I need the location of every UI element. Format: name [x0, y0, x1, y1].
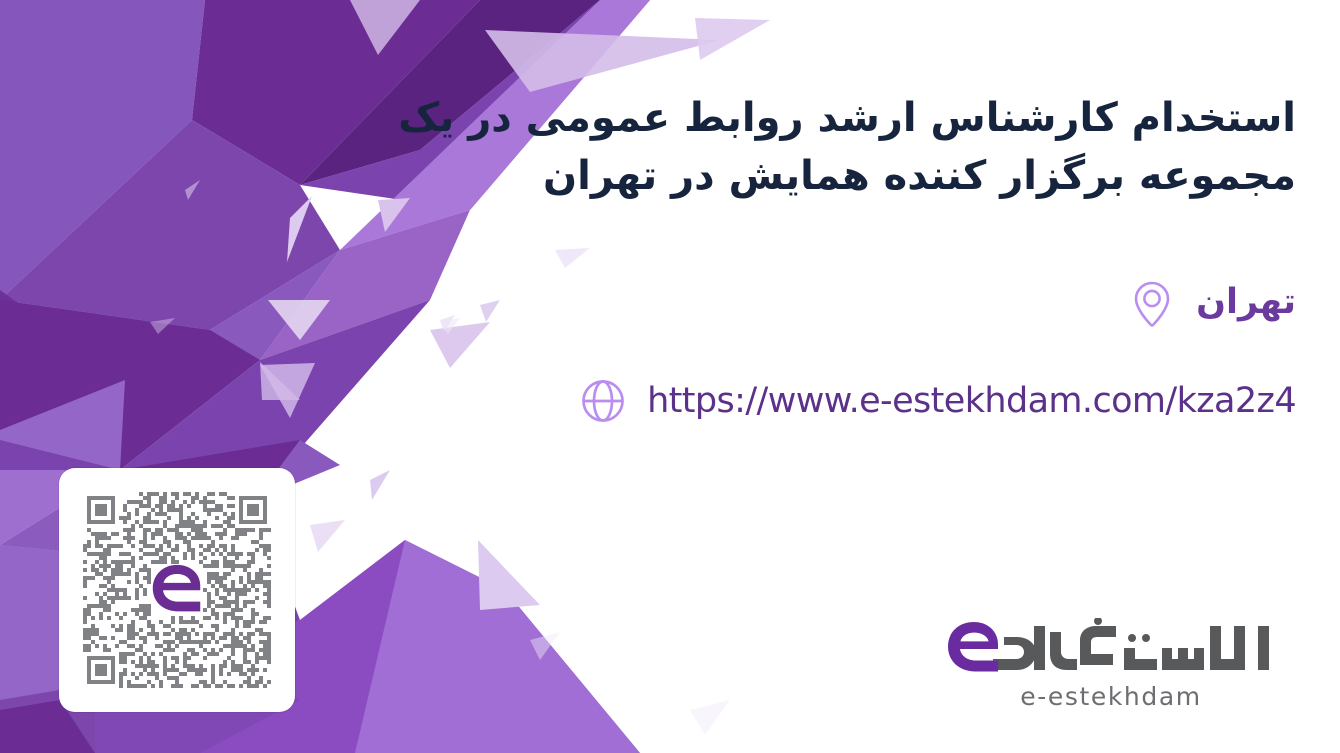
qr-center-e-logo: [146, 559, 208, 621]
location-row: تهران: [1128, 278, 1296, 330]
qr-code[interactable]: [59, 468, 295, 712]
globe-icon: [579, 375, 627, 427]
brand-wordmark: [946, 618, 1276, 680]
url-row[interactable]: https://www.e-estekhdam.com/kza2z4: [579, 375, 1296, 427]
brand-subtitle: e-estekhdam: [946, 682, 1276, 711]
share-card: استخدام کارشناس ارشد روابط عمومی در یک م…: [0, 0, 1340, 753]
map-pin-icon: [1128, 278, 1176, 330]
brand-logo: e-estekhdam: [946, 618, 1276, 711]
job-url-label[interactable]: https://www.e-estekhdam.com/kza2z4: [647, 384, 1296, 419]
job-title: استخدام کارشناس ارشد روابط عمومی در یک م…: [286, 89, 1296, 206]
location-label: تهران: [1196, 285, 1296, 324]
